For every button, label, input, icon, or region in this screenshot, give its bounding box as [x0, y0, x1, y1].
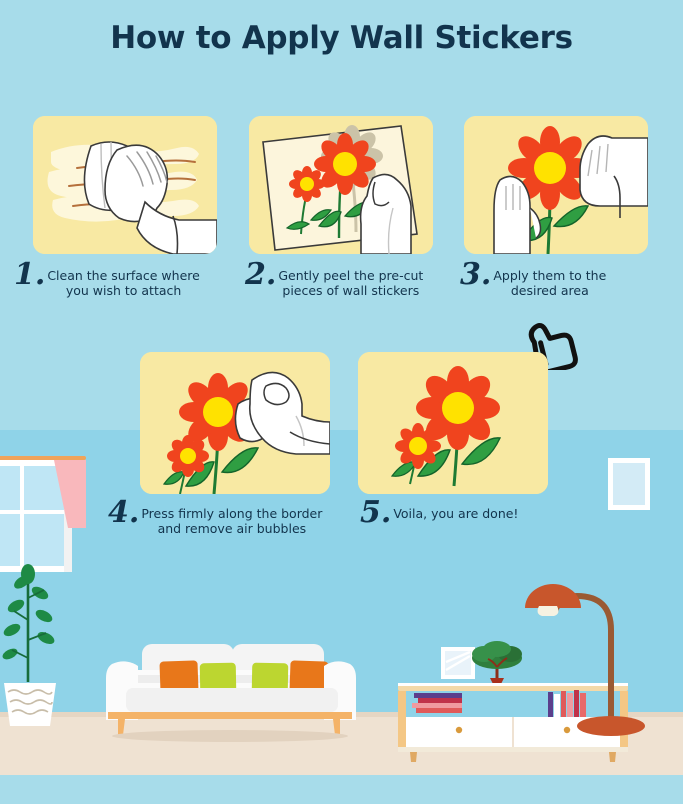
step-2-text: Gently peel the pre-cut pieces of wall s… — [278, 262, 423, 298]
step-3-text: Apply them to the desired area — [493, 262, 606, 298]
step-5-illustration — [358, 352, 548, 494]
stacked-books — [412, 693, 462, 713]
step-5-number: 5. — [360, 500, 391, 526]
step-1-caption: 1. Clean the surface where you wish to a… — [14, 262, 229, 298]
step-5-caption: 5. Voila, you are done! — [360, 500, 590, 526]
step-1-illustration — [33, 116, 217, 254]
step-4-number: 4. — [108, 500, 139, 526]
wall-picture-frame — [608, 458, 650, 510]
step-1-text: Clean the surface where you wish to atta… — [47, 262, 200, 298]
step-1-number: 1. — [14, 262, 45, 288]
step-4-illustration — [140, 352, 330, 494]
step-2-illustration — [249, 116, 433, 254]
page-title: How to Apply Wall Stickers — [0, 20, 683, 56]
step-3-caption: 3. Apply them to the desired area — [460, 262, 675, 298]
room-illustration — [0, 430, 683, 800]
step-2-number: 2. — [245, 262, 276, 288]
step-3-illustration — [464, 116, 648, 254]
infographic-canvas: How to Apply Wall Stickers — [0, 0, 683, 800]
step-5-text: Voila, you are done! — [393, 500, 518, 521]
step-4-caption: 4. Press firmly along the border and rem… — [108, 500, 353, 536]
step-4-text: Press firmly along the border and remove… — [141, 500, 322, 536]
step-3-number: 3. — [460, 262, 491, 288]
step-2-caption: 2. Gently peel the pre-cut pieces of wal… — [245, 262, 460, 298]
photo-frame — [441, 647, 475, 679]
